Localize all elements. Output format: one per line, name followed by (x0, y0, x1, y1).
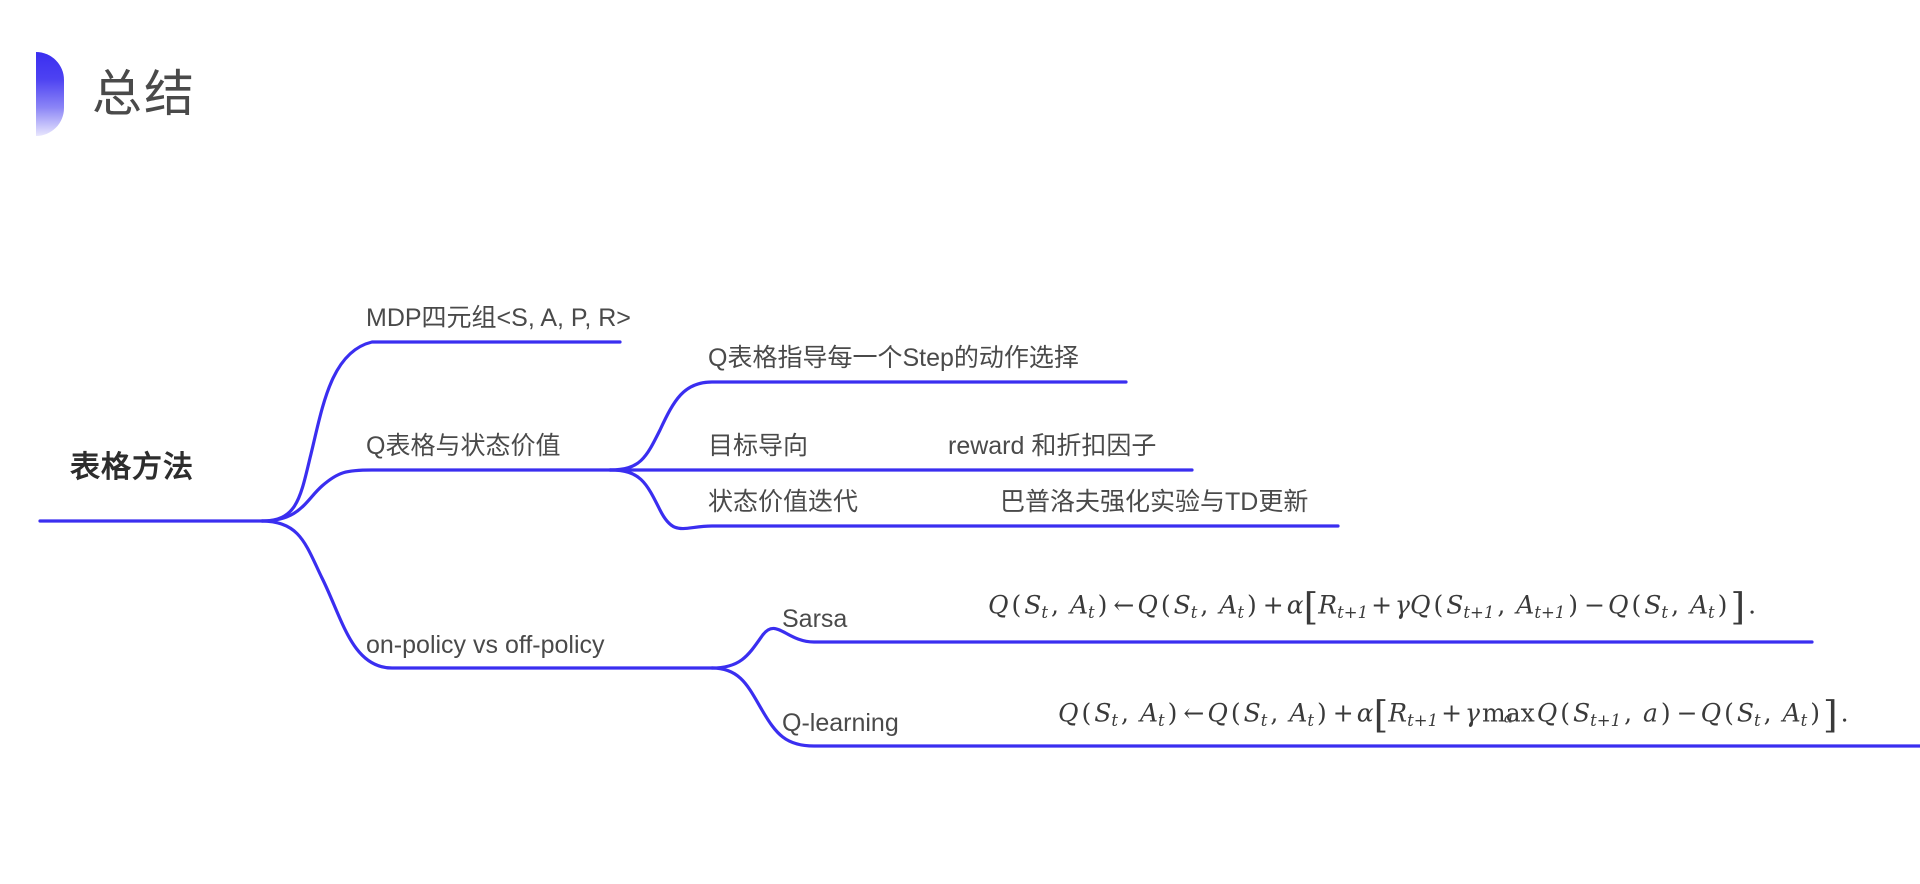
mindmap-root-node[interactable]: 表格方法 (70, 442, 194, 486)
edge-b3-to-sarsa (712, 628, 1812, 668)
mindmap-node-goal-oriented[interactable]: 目标导向 (708, 426, 808, 462)
mindmap-node-q-table-step-action[interactable]: Q表格指导每一个Step的动作选择 (708, 338, 1079, 374)
mindmap-diagram: 表格方法 MDP四元组<S, A, P, R> Q表格与状态价值 on-poli… (0, 0, 1920, 884)
mindmap-node-mdp-tuple[interactable]: MDP四元组<S, A, P, R> (366, 298, 631, 334)
mindmap-node-on-off-policy[interactable]: on-policy vs off-policy (366, 631, 605, 660)
mindmap-node-q-learning[interactable]: Q-learning (782, 709, 899, 738)
mindmap-node-q-table-state-value[interactable]: Q表格与状态价值 (366, 426, 560, 462)
mindmap-node-state-value-iteration[interactable]: 状态价值迭代 (708, 482, 858, 518)
mindmap-detail-pavlov-td-update[interactable]: 巴普洛夫强化实验与TD更新 (1000, 482, 1308, 518)
mindmap-node-sarsa[interactable]: Sarsa (782, 605, 847, 634)
edge-root-to-branch2 (262, 470, 610, 521)
mindmap-detail-reward-discount[interactable]: reward 和折扣因子 (948, 426, 1156, 462)
formula-q-learning-update: Q(St, At)←Q(St, At)+α[Rt+1+γmaxaQ(St+1, … (1058, 698, 1852, 730)
formula-sarsa-update: Q(St, At)←Q(St, At)+α[Rt+1+γQ(St+1, At+1… (988, 590, 1759, 622)
